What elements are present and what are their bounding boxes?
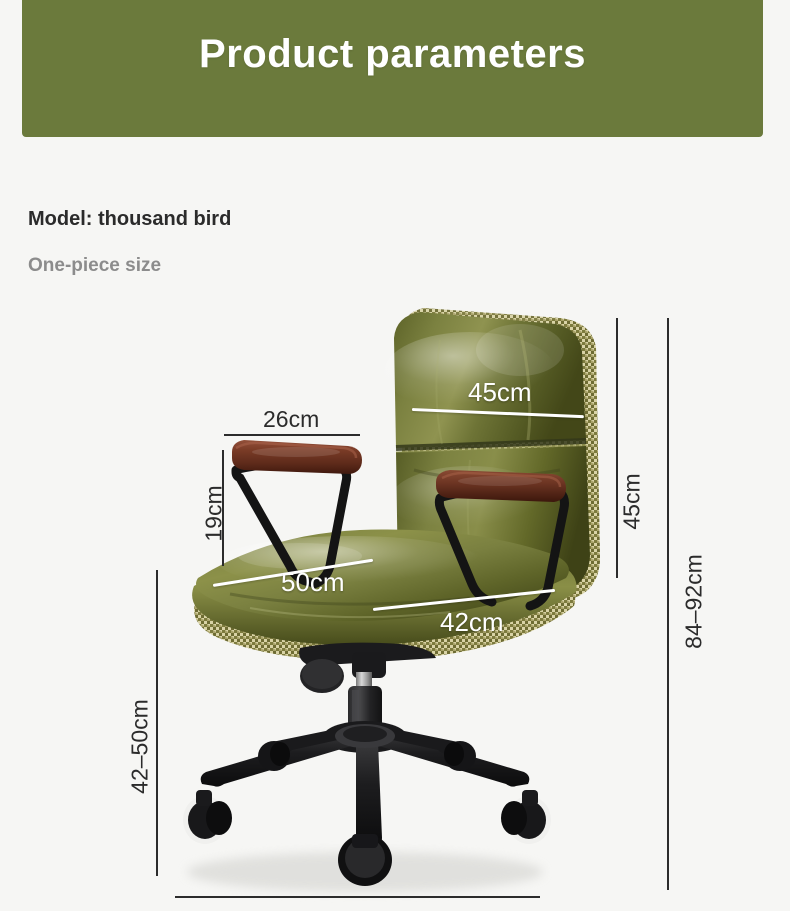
dim-total-height: 84–92cm [681,522,708,682]
seat-height-rule [156,570,158,876]
caster [444,741,476,771]
caster [338,834,392,886]
armrest-width-rule [224,434,360,436]
product-parameters-page: Product parameters Model: thousand bird … [0,0,790,911]
dim-backrest-width: 45cm [468,377,532,408]
floor-baseline-rule [175,896,540,898]
caster [501,790,551,844]
dim-seat-depth: 50cm [281,567,345,598]
dim-seat-height: 42–50cm [127,667,154,827]
total-height-rule [667,318,669,890]
caster [258,741,290,771]
office-chair-illustration [0,0,790,911]
dim-seat-width: 42cm [440,607,504,638]
dim-backrest-height: 45cm [619,452,646,552]
dim-armrest-width: 26cm [263,406,319,433]
chair-dimension-diagram: 45cm 50cm 42cm 26cm 19cm 45cm 84–92cm 42… [0,0,790,911]
dim-armrest-height: 19cm [201,464,228,564]
caster [183,790,232,844]
